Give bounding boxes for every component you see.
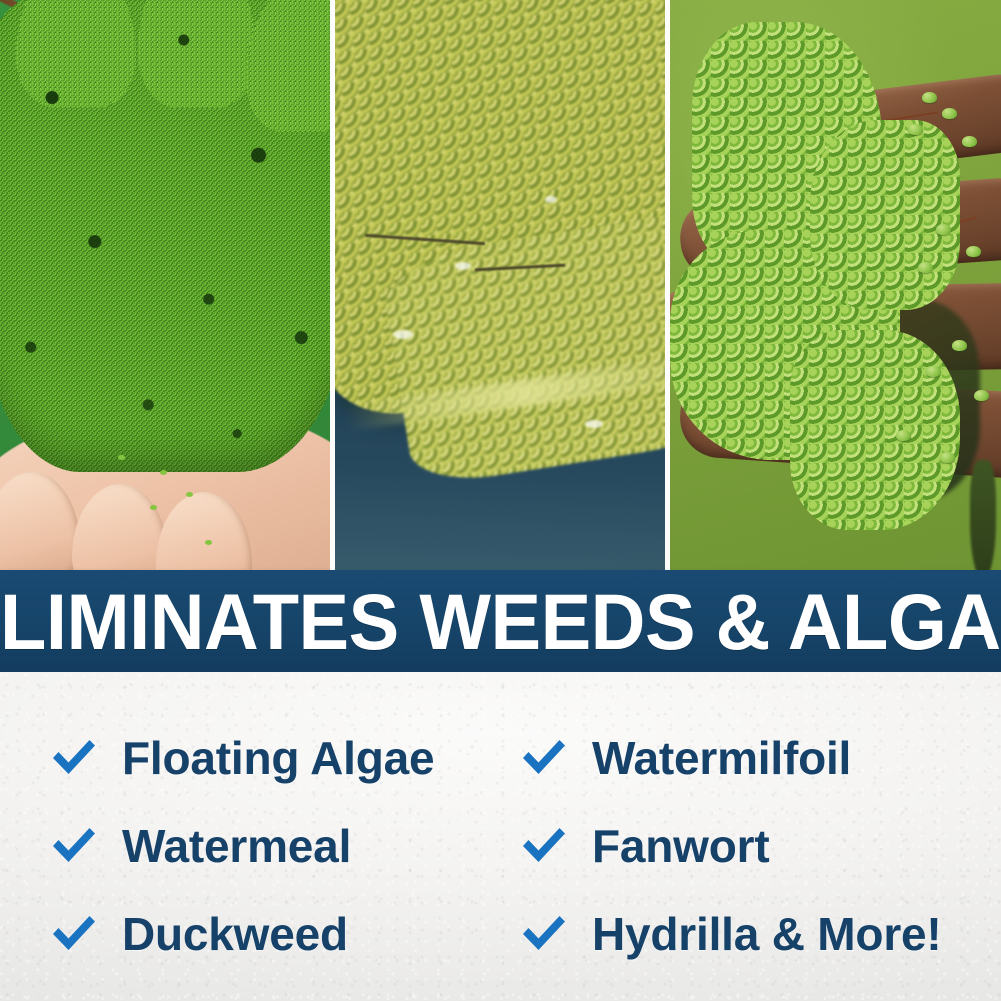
headline-banner: ELIMINATES WEEDS & ALGAE (0, 570, 1001, 672)
panel2-highlight (393, 330, 413, 339)
checklist-item-hydrilla: Hydrilla & More! (520, 890, 990, 978)
panel3-duckweed-leaf (952, 340, 967, 351)
panel3-duckweed-leaf (936, 224, 951, 235)
check-icon (520, 825, 568, 867)
checklist-item-fanwort: Fanwort (520, 802, 990, 890)
page-title: ELIMINATES WEEDS & ALGAE (0, 582, 1001, 661)
panel1-crumb (118, 455, 125, 460)
checklist-item-watermeal: Watermeal (50, 802, 520, 890)
checklist-item-duckweed: Duckweed (50, 890, 520, 978)
panel1-watermeal-lobe (246, 0, 330, 132)
photo-panel-watermeal-in-hand (0, 0, 330, 570)
checklist-label: Fanwort (592, 823, 769, 869)
weed-checklist: Floating Algae Watermilfoil Watermeal Fa… (0, 672, 1001, 978)
checklist-label: Hydrilla & More! (592, 911, 942, 957)
panel3-duckweed-leaf (962, 136, 977, 147)
checklist-item-floating-algae: Floating Algae (50, 714, 520, 802)
photo-panel-duckweed-in-hand (670, 0, 1001, 570)
panel3-duckweed-clump (810, 120, 960, 310)
panel1-crumb (186, 492, 193, 497)
panel2-highlight (585, 420, 603, 428)
checklist-label: Watermilfoil (592, 735, 851, 781)
panel1-crumb (160, 470, 167, 475)
panel2-highlight (455, 262, 471, 270)
panel1-crumb (205, 540, 212, 545)
panel3-duckweed-leaf (966, 246, 981, 257)
weed-checklist-section: Floating Algae Watermilfoil Watermeal Fa… (0, 672, 1001, 1001)
panel3-duckweed-leaf (896, 430, 911, 441)
checklist-label: Floating Algae (122, 735, 434, 781)
panel1-watermeal-mass (0, 0, 330, 472)
panel3-duckweed-leaf (942, 108, 957, 119)
check-icon (50, 913, 98, 955)
check-icon (50, 825, 98, 867)
panel1-crumb (150, 505, 157, 510)
checklist-label: Watermeal (122, 823, 351, 869)
panel3-duckweed-leaf (926, 366, 941, 377)
panel1-watermeal-lobe (16, 0, 136, 108)
checklist-item-watermilfoil: Watermilfoil (520, 714, 990, 802)
panel3-duckweed-leaf (922, 92, 937, 103)
panel3-duckweed-leaf (908, 124, 923, 135)
check-icon (50, 737, 98, 779)
panel3-duckweed-clump (790, 330, 960, 530)
check-icon (520, 737, 568, 779)
panel3-trailing-stem (970, 460, 996, 570)
product-feature-card: ELIMINATES WEEDS & ALGAE Floating Algae … (0, 0, 1001, 1001)
panel2-highlight (545, 196, 557, 203)
panel3-duckweed-leaf (918, 262, 933, 273)
panel3-duckweed-leaf (940, 452, 955, 463)
photo-strip (0, 0, 1001, 570)
checklist-label: Duckweed (122, 911, 348, 957)
photo-panel-floating-algae (335, 0, 665, 570)
panel3-duckweed-leaf (974, 390, 989, 401)
check-icon (520, 913, 568, 955)
panel1-watermeal-lobe (138, 0, 256, 108)
